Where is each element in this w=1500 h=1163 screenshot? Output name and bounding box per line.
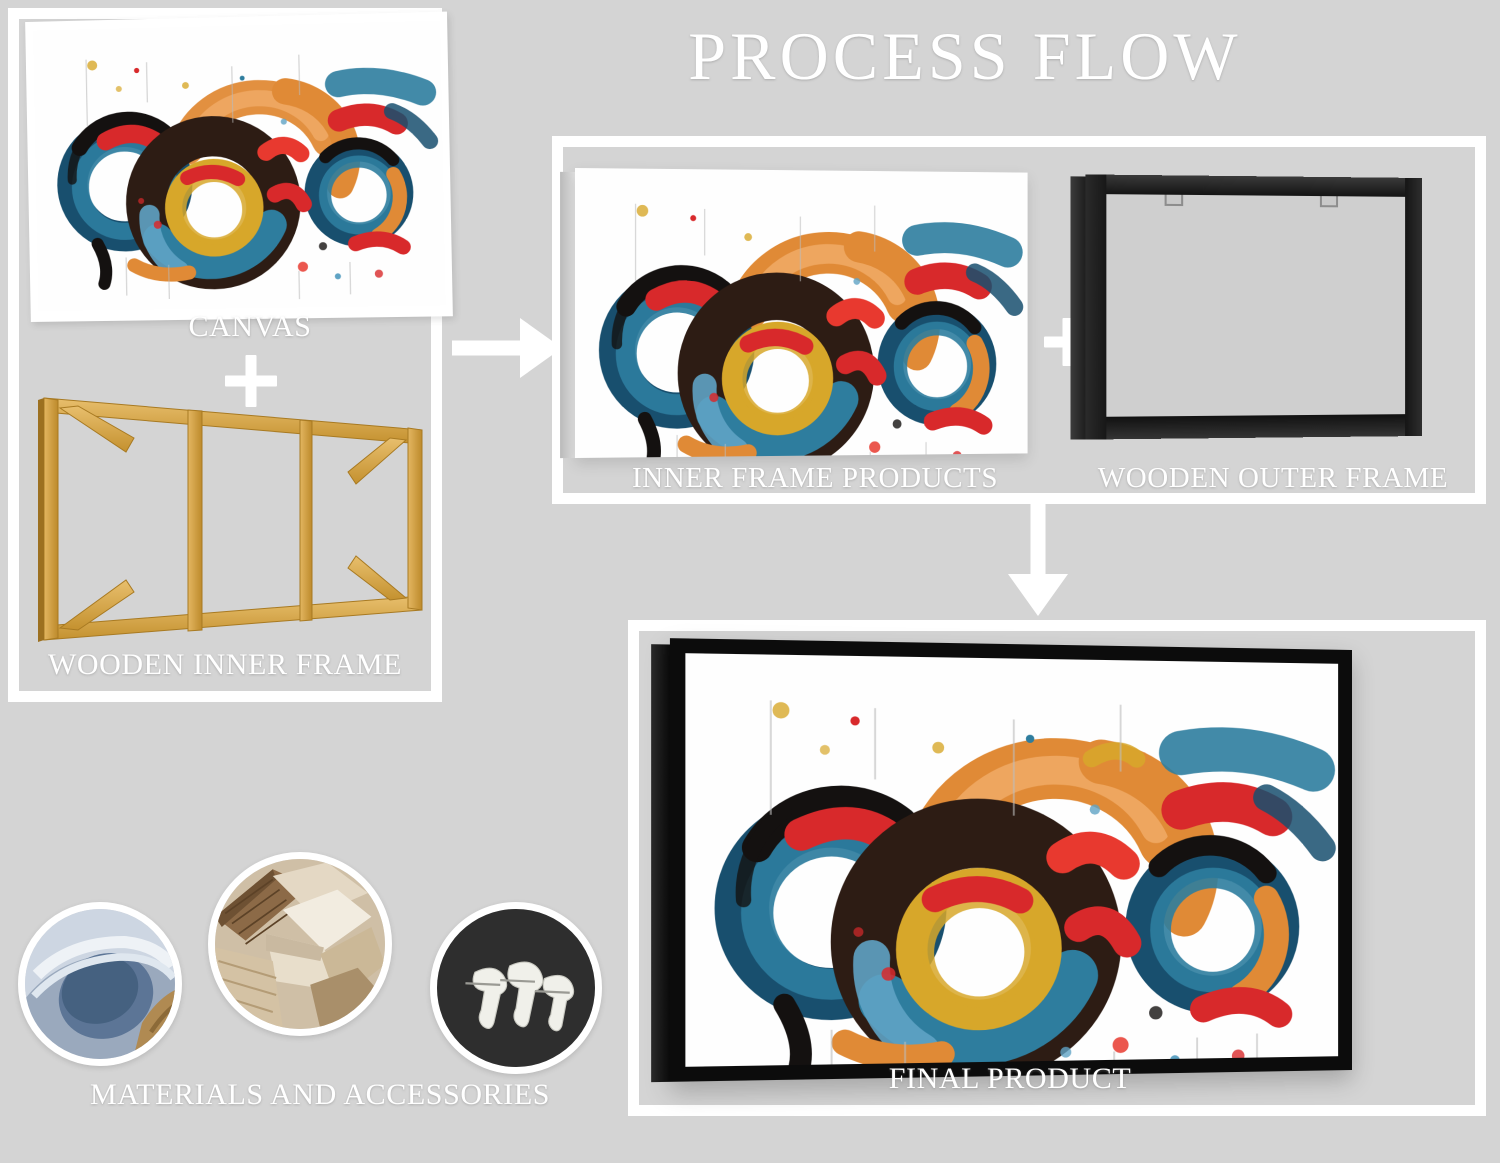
inner-frame-products-label: INNER FRAME PRODUCTS <box>570 462 1060 495</box>
hanging-hook-icon <box>1320 196 1338 207</box>
final-product-label: FINAL PRODUCT <box>780 1062 1240 1096</box>
accessory-wall-hooks <box>430 902 602 1074</box>
canvas-side-edge <box>560 172 575 458</box>
hanging-hook-icon <box>1165 195 1184 206</box>
wooden-outer-frame-label: WOODEN OUTER FRAME <box>1058 462 1488 495</box>
canvas-label: CANVAS <box>60 310 440 344</box>
inner-frame-product-image <box>575 168 1028 458</box>
frame-opening <box>1106 194 1405 417</box>
final-product-image <box>670 638 1352 1082</box>
final-artwork <box>685 653 1338 1067</box>
arrow-down-icon <box>1008 504 1068 616</box>
page-title: PROCESS FLOW <box>620 14 1310 98</box>
canvas-roll-photo <box>25 909 175 1059</box>
frame-depth-edge <box>651 644 671 1082</box>
canvas-face <box>575 168 1028 458</box>
frame-top-rail <box>1085 174 1422 197</box>
wooden-frame-drawing <box>38 378 428 646</box>
final-artwork-drawing <box>685 653 1338 1067</box>
frame-side-depth <box>1071 176 1087 439</box>
accessory-wood-bars <box>208 852 392 1036</box>
frame-left-rail <box>1085 174 1106 439</box>
wood-bars-photo <box>215 859 385 1029</box>
wooden-inner-frame-label: WOODEN INNER FRAME <box>20 648 430 682</box>
infographic-root: PROCESS FLOW <box>0 0 1500 1163</box>
frame-right-rail <box>1405 178 1422 436</box>
wall-hooks-photo <box>437 909 595 1067</box>
canvas-artwork <box>33 21 445 311</box>
accessory-canvas-roll <box>18 902 182 1066</box>
wooden-outer-frame-image <box>1085 174 1422 439</box>
materials-and-accessories-label: MATERIALS AND ACCESSORIES <box>30 1078 610 1112</box>
wooden-inner-frame-image <box>38 378 428 646</box>
arrow-right-icon <box>452 318 562 378</box>
inner-frame-artwork <box>575 168 1028 458</box>
canvas-image <box>25 12 453 322</box>
frame-bottom-rail <box>1085 414 1422 440</box>
